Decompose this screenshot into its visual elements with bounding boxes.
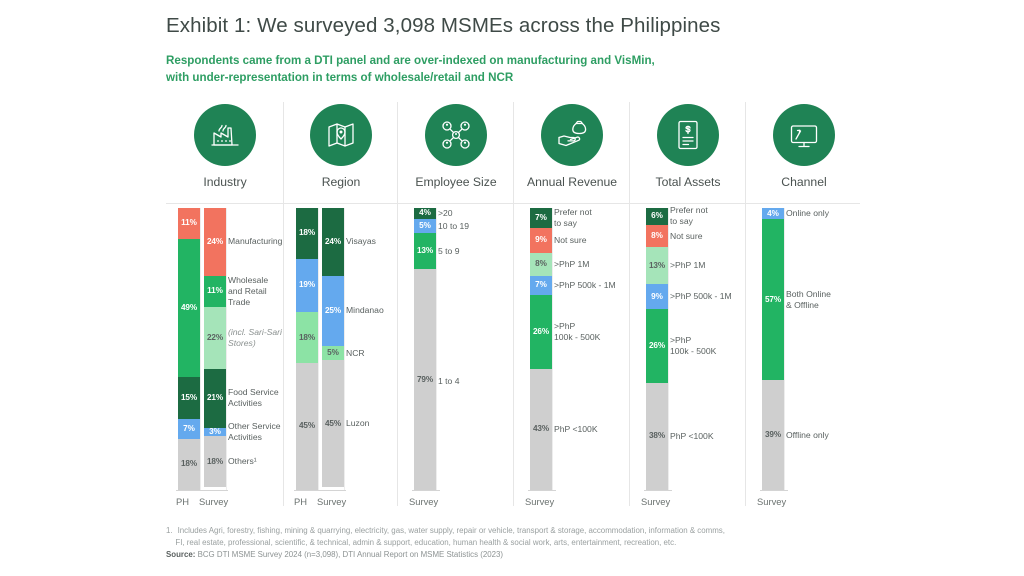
bar-segment: 9%	[646, 284, 668, 309]
axis-baseline	[528, 490, 556, 491]
legend-item: Not sure	[670, 231, 702, 242]
bar-segment: 13%	[646, 247, 668, 284]
bar-segment: 26%	[646, 309, 668, 382]
legend: ManufacturingWholesaleand RetailTrade(in…	[228, 208, 288, 490]
stacked-bar-survey: 4%5%13%79%	[414, 208, 436, 490]
legend-item: Visayas	[346, 236, 376, 247]
segment-value: 18%	[207, 458, 223, 466]
bar-segment: 7%	[178, 419, 200, 439]
segment-value: 6%	[651, 212, 663, 220]
subtitle-line-1: Respondents came from a DTI panel and ar…	[166, 53, 846, 70]
legend-item: Others¹	[228, 456, 257, 467]
footnote: 1. Includes Agri, forestry, fishing, min…	[166, 525, 886, 561]
segment-value: 7%	[535, 214, 547, 222]
legend-item: PhP <100K	[554, 424, 598, 435]
column-label-annual-revenue: Annual Revenue	[527, 175, 617, 189]
bar-segment: 4%	[414, 208, 436, 219]
legend-item: Luzon	[346, 418, 369, 429]
bar-segment: 25%	[322, 276, 344, 347]
bar-segment: 18%	[178, 439, 200, 490]
column-label-region: Region	[322, 175, 361, 189]
bar-segment: 39%	[762, 380, 784, 490]
bar-segment: 5%	[322, 346, 344, 360]
legend-item: NCR	[346, 348, 365, 359]
axis-baseline	[176, 490, 228, 491]
bar-segment: 49%	[178, 239, 200, 377]
bar-segment: 57%	[762, 219, 784, 380]
legend-item: >PhP 1M	[554, 259, 589, 270]
stacked-bar-survey: 24%11%22%21%3%18%	[204, 208, 226, 490]
axis-label-ph: PH	[294, 496, 307, 507]
segment-value: 79%	[417, 376, 433, 384]
bar-segment: 24%	[204, 208, 226, 276]
segment-value: 8%	[535, 260, 547, 268]
legend-item: Wholesaleand RetailTrade	[228, 275, 268, 308]
factory-icon	[194, 104, 256, 166]
column-label-total-assets: Total Assets	[655, 175, 720, 189]
segment-value: 5%	[419, 222, 431, 230]
legend-item: Prefer notto say	[554, 207, 592, 229]
segment-value: 13%	[649, 262, 665, 270]
segment-value: 9%	[535, 236, 547, 244]
segment-value: 43%	[533, 425, 549, 433]
segment-value: 5%	[327, 349, 339, 357]
bar-group: 11%49%15%7%18%24%11%22%21%3%18%	[178, 208, 226, 490]
axis-baseline	[644, 490, 672, 491]
page-subtitle: Respondents came from a DTI panel and ar…	[166, 53, 846, 86]
exhibit-slide: Exhibit 1: We surveyed 3,098 MSMEs acros…	[0, 0, 1024, 576]
legend-item: Food ServiceActivities	[228, 387, 279, 409]
bar-segment: 18%	[296, 312, 318, 363]
bar-segment: 26%	[530, 295, 552, 368]
bar-segment: 18%	[296, 208, 318, 259]
bar-segment: 13%	[414, 233, 436, 269]
bar-group: 4%57%39%	[762, 208, 784, 490]
segment-value: 38%	[649, 432, 665, 440]
footnote-line-1: Includes Agri, forestry, fishing, mining…	[178, 525, 725, 537]
segment-value: 24%	[325, 238, 341, 246]
legend-item: >20	[438, 208, 453, 219]
hand-money-bag-icon	[541, 104, 603, 166]
bar-segment: 9%	[530, 228, 552, 253]
source-text: BCG DTI MSME Survey 2024 (n=3,098), DTI …	[198, 550, 503, 559]
column-label-channel: Channel	[781, 175, 826, 189]
column-region: Region18%19%18%45%24%25%5%45%PHSurveyVis…	[284, 100, 398, 512]
legend-item: (incl. Sari-SariStores)	[228, 327, 282, 349]
segment-value: 21%	[207, 394, 223, 402]
legend-item: >PhP 500k - 1M	[670, 291, 732, 302]
segment-value: 7%	[183, 425, 195, 433]
stacked-bar-survey: 4%57%39%	[762, 208, 784, 490]
segment-value: 26%	[533, 328, 549, 336]
document-dollar-icon	[657, 104, 719, 166]
column-channel: Channel4%57%39%SurveyOnline onlyBoth Onl…	[746, 100, 862, 512]
bar-segment: 11%	[204, 276, 226, 307]
column-employee-size: Employee Size4%5%13%79%Survey>2010 to 19…	[398, 100, 514, 512]
source-label: Source:	[166, 550, 195, 559]
segment-value: 3%	[209, 428, 221, 436]
legend-item: Other ServiceActivities	[228, 421, 281, 443]
bar-group: 7%9%8%7%26%43%	[530, 208, 552, 490]
axis-baseline	[412, 490, 440, 491]
legend: Online onlyBoth Online& OfflineOffline o…	[786, 208, 846, 490]
bar-segment: 3%	[204, 428, 226, 436]
bar-segment: 38%	[646, 383, 668, 490]
column-industry: Industry11%49%15%7%18%24%11%22%21%3%18%P…	[166, 100, 284, 512]
segment-value: 11%	[181, 219, 197, 227]
segment-value: 4%	[419, 209, 431, 217]
bar-segment: 22%	[204, 307, 226, 369]
bar-group: 18%19%18%45%24%25%5%45%	[296, 208, 344, 490]
legend-item: PhP <100K	[670, 431, 714, 442]
legend: Prefer notto sayNot sure>PhP 1M>PhP 500k…	[670, 208, 730, 490]
bar-segment: 4%	[762, 208, 784, 219]
bar-segment: 7%	[530, 276, 552, 296]
segment-value: 22%	[207, 334, 223, 342]
axis-label-survey: Survey	[199, 496, 228, 507]
axis-label-survey: Survey	[757, 496, 786, 507]
axis-label-survey: Survey	[409, 496, 438, 507]
bar-segment: 24%	[322, 208, 344, 276]
column-annual-revenue: Annual Revenue7%9%8%7%26%43%SurveyPrefer…	[514, 100, 630, 512]
legend-item: Not sure	[554, 235, 586, 246]
bar-segment: 11%	[178, 208, 200, 239]
bar-segment: 15%	[178, 377, 200, 419]
stacked-bar-survey: 24%25%5%45%	[322, 208, 344, 490]
bar-group: 4%5%13%79%	[414, 208, 436, 490]
page-title: Exhibit 1: We surveyed 3,098 MSMEs acros…	[166, 14, 721, 38]
segment-value: 8%	[651, 232, 663, 240]
segment-value: 19%	[299, 281, 315, 289]
legend-item: Prefer notto say	[670, 205, 708, 227]
footnote-number: 1.	[166, 525, 173, 537]
segment-value: 15%	[181, 394, 197, 402]
segment-value: 45%	[299, 422, 315, 430]
bar-segment: 79%	[414, 269, 436, 490]
bar-segment: 43%	[530, 369, 552, 490]
segment-value: 18%	[181, 460, 197, 468]
bar-segment: 45%	[296, 363, 318, 490]
bar-segment: 6%	[646, 208, 668, 225]
legend-item: Online only	[786, 208, 829, 219]
bar-segment: 8%	[646, 225, 668, 248]
segment-value: 13%	[417, 247, 433, 255]
column-total-assets: Total Assets6%8%13%9%26%38%SurveyPrefer …	[630, 100, 746, 512]
axis-label-survey: Survey	[525, 496, 554, 507]
legend-item: Mindanao	[346, 305, 384, 316]
legend-item: Manufacturing	[228, 236, 282, 247]
segment-value: 26%	[649, 342, 665, 350]
subtitle-line-2: with under-representation in terms of wh…	[166, 70, 846, 87]
legend-item: >PhP100k - 500K	[554, 321, 600, 343]
axis-label-ph: PH	[176, 496, 189, 507]
segment-value: 4%	[767, 210, 779, 218]
legend-item: >PhP100k - 500K	[670, 335, 716, 357]
bar-segment: 45%	[322, 360, 344, 487]
chart-columns: Industry11%49%15%7%18%24%11%22%21%3%18%P…	[166, 100, 860, 512]
legend-item: Both Online& Offline	[786, 289, 831, 311]
stacked-bar-ph: 11%49%15%7%18%	[178, 208, 200, 490]
segment-value: 24%	[207, 238, 223, 246]
segment-value: 49%	[181, 304, 197, 312]
bar-segment: 5%	[414, 219, 436, 233]
legend: >2010 to 195 to 91 to 4	[438, 208, 498, 490]
legend: Prefer notto sayNot sure>PhP 1M>PhP 500k…	[554, 208, 614, 490]
legend-item: 5 to 9	[438, 246, 460, 257]
bar-segment: 7%	[530, 208, 552, 228]
segment-value: 7%	[535, 281, 547, 289]
bar-segment: 8%	[530, 253, 552, 276]
bar-group: 6%8%13%9%26%38%	[646, 208, 668, 490]
column-label-industry: Industry	[203, 175, 246, 189]
stacked-bar-survey: 7%9%8%7%26%43%	[530, 208, 552, 490]
legend-item: Offline only	[786, 430, 829, 441]
column-label-employee-size: Employee Size	[415, 175, 496, 189]
segment-value: 25%	[325, 307, 341, 315]
segment-value: 18%	[299, 229, 315, 237]
legend-item: 1 to 4	[438, 376, 460, 387]
axis-baseline	[294, 490, 346, 491]
segment-value: 11%	[207, 287, 223, 295]
source-line: Source: BCG DTI MSME Survey 2024 (n=3,09…	[166, 549, 886, 561]
bar-segment: 21%	[204, 369, 226, 428]
legend-item: 10 to 19	[438, 221, 469, 232]
footnote-line-2: FI, real estate, professional, scientifi…	[175, 537, 676, 549]
monitor-icon	[773, 104, 835, 166]
legend-item: >PhP 1M	[670, 260, 705, 271]
map-pin-icon	[310, 104, 372, 166]
bar-segment: 18%	[204, 436, 226, 487]
segment-value: 45%	[325, 420, 341, 428]
segment-value: 57%	[765, 296, 781, 304]
axis-baseline	[760, 490, 788, 491]
people-network-icon	[425, 104, 487, 166]
segment-value: 18%	[299, 334, 315, 342]
segment-value: 9%	[651, 293, 663, 301]
stacked-bar-survey: 6%8%13%9%26%38%	[646, 208, 668, 490]
axis-label-survey: Survey	[317, 496, 346, 507]
legend-item: >PhP 500k - 1M	[554, 280, 616, 291]
segment-value: 39%	[765, 431, 781, 439]
bar-segment: 19%	[296, 259, 318, 313]
stacked-bar-ph: 18%19%18%45%	[296, 208, 318, 490]
axis-label-survey: Survey	[641, 496, 670, 507]
